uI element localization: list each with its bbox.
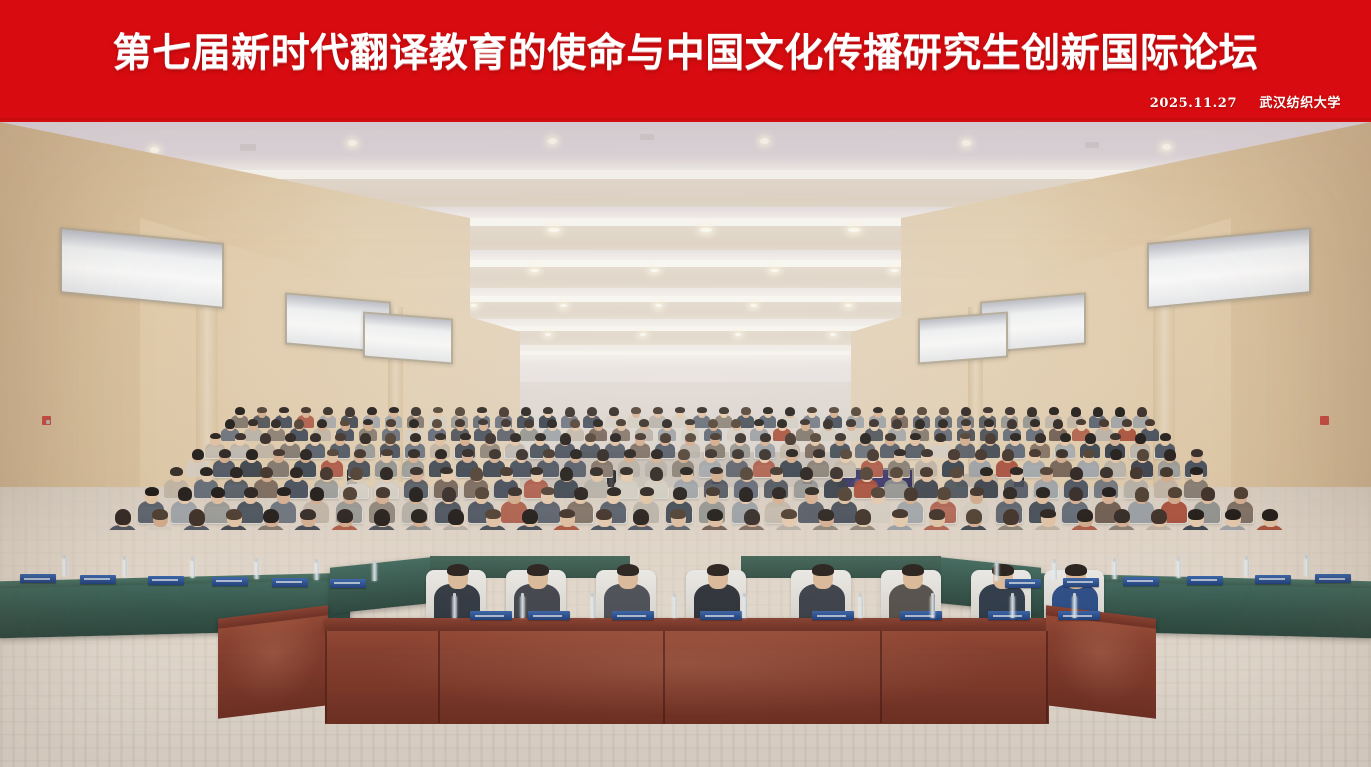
- audience-person-hair: [1030, 419, 1040, 427]
- presidium-person-hair: [902, 564, 924, 576]
- audience-person-hair: [631, 407, 641, 414]
- audience-person-hair: [935, 433, 946, 442]
- audience-person-hair: [960, 433, 971, 439]
- audience-person-hair: [948, 449, 960, 460]
- water-bottle: [62, 558, 67, 576]
- audience-person-hair: [760, 433, 771, 442]
- audience-person-body: [254, 479, 278, 498]
- nameplate: [900, 611, 942, 620]
- audience-person-hair: [510, 433, 521, 442]
- nameplate: [1058, 611, 1100, 620]
- nameplate: [612, 611, 654, 620]
- head-table-front: [325, 631, 1049, 724]
- event-date: 2025.11.27: [1150, 96, 1237, 111]
- audience-person-hair: [530, 467, 543, 475]
- event-venue: 武汉纺织大学: [1259, 96, 1341, 111]
- audience-person-hair: [1003, 487, 1018, 499]
- audience-person-hair: [1069, 487, 1084, 501]
- audience-person-hair: [1188, 509, 1204, 520]
- audience-person-hair: [867, 449, 879, 461]
- audience-person-hair: [670, 509, 686, 519]
- audience-person-hair: [389, 407, 399, 413]
- audience-person-hair: [597, 449, 609, 461]
- audience-person-hair: [610, 433, 621, 442]
- audience-person-hair: [285, 433, 296, 442]
- nameplate: [272, 578, 308, 587]
- audience-person-hair: [685, 419, 695, 425]
- audience-person-hair: [260, 433, 271, 444]
- audience-person-hair: [590, 467, 603, 476]
- audience-person-hair: [1053, 419, 1063, 429]
- presidium-person-hair: [707, 564, 729, 576]
- audience-person-hair: [680, 467, 693, 475]
- audience-person-hair: [873, 407, 883, 413]
- audience-person-hair: [1027, 407, 1037, 417]
- audience-person-hair: [904, 487, 919, 501]
- water-bottle: [1072, 596, 1077, 618]
- audience-person-hair: [1135, 487, 1150, 502]
- audience-person-hair: [310, 433, 321, 442]
- audience-person-hair: [277, 487, 292, 496]
- nameplate: [212, 577, 248, 586]
- nameplate: [148, 576, 184, 585]
- audience-person-hair: [984, 419, 994, 427]
- audience-person-hair: [938, 419, 948, 428]
- audience-person-hair: [939, 407, 949, 415]
- audience-person-hair: [1005, 407, 1015, 415]
- audience-person-hair: [433, 407, 443, 413]
- audience-person-hair: [830, 467, 843, 479]
- audience-person-hair: [273, 449, 285, 456]
- audience-person-hair: [170, 467, 183, 476]
- nameplate: [1187, 576, 1223, 585]
- audience-person-hair: [980, 467, 993, 476]
- audience-person-hair: [763, 407, 773, 414]
- audience-person-hair: [585, 433, 596, 442]
- banner-subtitle: 2025.11.27 武汉纺织大学: [1150, 92, 1341, 111]
- audience-person-hair: [1102, 487, 1117, 497]
- audience-seating: [0, 390, 1371, 530]
- audience-person-hair: [178, 487, 193, 501]
- nameplate: [80, 575, 116, 584]
- audience-person-hair: [1100, 467, 1113, 478]
- audience-person-hair: [462, 449, 474, 457]
- audience-person-hair: [1151, 509, 1167, 524]
- audience-person-hair: [1070, 467, 1083, 480]
- audience-person-hair: [708, 419, 718, 428]
- audience-person-hair: [662, 419, 672, 428]
- audience-person-hair: [408, 449, 420, 458]
- audience-person-hair: [475, 487, 490, 499]
- audience-person-hair: [810, 433, 821, 442]
- audience-person-hair: [501, 419, 511, 427]
- audience-person-hair: [805, 487, 820, 495]
- audience-person-hair: [920, 467, 933, 477]
- audience-person-hair: [374, 509, 390, 526]
- audience-person-hair: [744, 509, 760, 525]
- nameplate: [20, 574, 56, 583]
- audience-person-hair: [639, 419, 649, 427]
- audience-person-hair: [294, 419, 304, 429]
- audience-person-hair: [411, 509, 427, 523]
- audience-person-hair: [635, 433, 646, 440]
- audience-person-hair: [651, 449, 663, 459]
- audience-person-hair: [894, 449, 906, 456]
- audience-person-hair: [1160, 433, 1171, 441]
- water-bottle: [452, 596, 457, 618]
- presidium-person-hair: [447, 564, 469, 576]
- audience-person-hair: [653, 407, 663, 414]
- audience-person-hair: [524, 419, 534, 428]
- audience-person-hair: [570, 419, 580, 428]
- audience-person-hair: [607, 487, 622, 496]
- audience-person-hair: [807, 407, 817, 413]
- audience-person-hair: [432, 419, 442, 428]
- audience-person-hair: [455, 407, 465, 416]
- audience-person-hair: [335, 433, 346, 441]
- audience-person-hair: [829, 407, 839, 413]
- audience-person-hair: [890, 467, 903, 478]
- water-bottle: [1176, 560, 1181, 578]
- audience-person-hair: [1035, 433, 1046, 443]
- audience-person-hair: [301, 407, 311, 413]
- audience-person-hair: [1085, 433, 1096, 444]
- audience-person-hair: [740, 467, 753, 480]
- audience-person-hair: [735, 433, 746, 443]
- audience-person-hair: [1135, 433, 1146, 444]
- audience-person-hair: [660, 433, 671, 443]
- audience-person-hair: [559, 509, 575, 518]
- audience-person-hair: [975, 449, 987, 460]
- audience-person-hair: [710, 433, 721, 440]
- audience-person-hair: [596, 509, 612, 520]
- audience-person-hair: [823, 419, 833, 429]
- presidium-person-hair: [617, 564, 639, 576]
- nameplate: [528, 611, 570, 620]
- audience-person-hair: [1049, 407, 1059, 415]
- nameplate: [330, 579, 366, 588]
- audience-person-hair: [1262, 509, 1278, 521]
- audience-person-hair: [921, 449, 933, 457]
- audience-person-hair: [448, 509, 464, 525]
- audience-person-hair: [869, 419, 879, 427]
- audience-person-hair: [1114, 509, 1130, 523]
- audience-person-hair: [851, 407, 861, 416]
- audience-person-hair: [1225, 509, 1241, 520]
- audience-person-hair: [1160, 467, 1173, 477]
- audience-person-hair: [354, 449, 366, 458]
- water-bottle: [314, 562, 319, 580]
- audience-person-hair: [650, 467, 663, 481]
- audience-person-hair: [983, 407, 993, 413]
- audience-person-hair: [777, 419, 787, 428]
- audience-person-hair: [785, 433, 796, 445]
- audience-person-hair: [345, 407, 355, 417]
- audience-person-hair: [719, 407, 729, 414]
- audience-person-hair: [386, 419, 396, 427]
- audience-person-hair: [263, 509, 279, 523]
- audience-person-hair: [290, 467, 303, 478]
- audience-person-hair: [485, 433, 496, 444]
- audience-person-hair: [435, 449, 447, 459]
- audience-person-hair: [226, 509, 242, 520]
- audience-person-hair: [1056, 449, 1068, 458]
- audience-person-hair: [543, 449, 555, 458]
- audience-person-hair: [892, 509, 908, 518]
- audience-person-hair: [317, 419, 327, 428]
- nameplate: [700, 611, 742, 620]
- audience-person-hair: [409, 487, 424, 502]
- water-bottle: [254, 561, 259, 579]
- audience-person-hair: [1002, 449, 1014, 461]
- audience-person-hair: [381, 449, 393, 456]
- audience-person-hair: [1036, 487, 1051, 498]
- audience-person-hair: [1029, 449, 1041, 457]
- audience-person-hair: [1145, 419, 1155, 426]
- audience-person-hair: [455, 419, 465, 427]
- audience-person-hair: [410, 433, 421, 442]
- water-bottle: [858, 596, 863, 618]
- nameplate: [1005, 579, 1041, 588]
- audience-person-hair: [706, 487, 721, 496]
- presidium-person-hair: [527, 564, 549, 576]
- water-bottle: [994, 563, 999, 581]
- audience-person-hair: [970, 487, 985, 496]
- audience-person-hair: [442, 487, 457, 502]
- audience-person-hair: [892, 419, 902, 429]
- audience-person-hair: [772, 487, 787, 499]
- head-table-top: [325, 618, 1049, 632]
- audience-person-hair: [376, 487, 391, 498]
- audience-person-hair: [477, 407, 487, 413]
- audience-person-hair: [1040, 467, 1053, 475]
- audience-person-hair: [929, 509, 945, 520]
- audience-person-hair: [1010, 433, 1021, 441]
- poster-root: 第七届新时代翻译教育的使命与中国文化传播研究生创新国际论坛 2025.11.27…: [0, 0, 1371, 767]
- audience-person-hair: [910, 433, 921, 440]
- audience-person-hair: [1137, 407, 1147, 417]
- audience-person-hair: [343, 487, 358, 500]
- audience-person-hair: [917, 407, 927, 415]
- audience-person-hair: [697, 407, 707, 413]
- audience-person-hair: [560, 467, 573, 481]
- audience-person-hair: [367, 407, 377, 415]
- audience-person-hair: [1093, 407, 1103, 417]
- audience-person-hair: [675, 407, 685, 413]
- water-bottle: [1112, 561, 1117, 579]
- audience-person-hair: [1234, 487, 1249, 499]
- audience-person-hair: [435, 433, 446, 440]
- audience-person-hair: [759, 449, 771, 460]
- audience-person-hair: [535, 433, 546, 441]
- audience-person-hair: [409, 419, 419, 428]
- audience-person-hair: [260, 467, 273, 478]
- audience-person-hair: [871, 487, 886, 498]
- audience-person-hair: [633, 509, 649, 525]
- audience-person-hair: [754, 419, 764, 426]
- audience-person-hair: [1071, 407, 1081, 417]
- banner-title: 第七届新时代翻译教育的使命与中国文化传播研究生创新国际论坛: [0, 22, 1371, 78]
- audience-person-hair: [707, 509, 723, 521]
- audience-person-hair: [1164, 449, 1176, 461]
- audience-person-body: [831, 501, 857, 523]
- audience-person-hair: [895, 407, 905, 415]
- audience-person-hair: [985, 433, 996, 444]
- audience-person-hair: [1191, 449, 1203, 457]
- audience-person-hair: [300, 509, 316, 520]
- audience-person-hair: [192, 449, 204, 460]
- wall-window-panel-right-3: [918, 311, 1008, 364]
- water-bottle: [672, 596, 677, 618]
- audience-person-hair: [350, 467, 363, 480]
- audience-person-hair: [781, 509, 797, 519]
- audience-person-hair: [813, 449, 825, 458]
- audience-person-hair: [616, 419, 626, 426]
- audience-person-hair: [915, 419, 925, 429]
- audience-person-hair: [500, 467, 513, 476]
- nameplate: [1123, 577, 1159, 586]
- audience-person-hair: [210, 433, 221, 439]
- audience-person-hair: [818, 509, 834, 521]
- audience-person-hair: [587, 407, 597, 416]
- audience-person-hair: [470, 467, 483, 481]
- audience-person-hair: [257, 407, 267, 413]
- audience-person-hair: [211, 487, 226, 498]
- water-bottle: [1052, 562, 1057, 580]
- conference-photo: [0, 122, 1371, 767]
- audience-person-hair: [1201, 487, 1216, 501]
- water-bottle: [742, 596, 747, 618]
- audience-person-hair: [271, 419, 281, 428]
- audience-person-hair: [235, 407, 245, 415]
- audience-person-hair: [1110, 449, 1122, 460]
- audience-person-hair: [565, 407, 575, 417]
- audience-person-hair: [860, 433, 871, 444]
- audience-person-hair: [310, 487, 325, 501]
- water-bottle: [372, 563, 377, 581]
- audience-person-hair: [246, 449, 258, 460]
- audience-person-hair: [1003, 509, 1019, 525]
- audience-person-hair: [950, 467, 963, 478]
- audience-person-hair: [1168, 487, 1183, 498]
- audience-person-hair: [410, 467, 423, 475]
- audience-person-hair: [460, 433, 471, 440]
- audience-person-hair: [574, 487, 589, 500]
- audience-person-hair: [385, 433, 396, 444]
- audience-person-hair: [499, 407, 509, 417]
- audience-person-hair: [624, 449, 636, 458]
- water-bottle: [930, 596, 935, 618]
- audience-person-hair: [152, 509, 168, 520]
- audience-person-hair: [785, 407, 795, 416]
- audience-person-hair: [225, 419, 235, 429]
- audience-person-hair: [1115, 407, 1125, 417]
- audience-person-hair: [235, 433, 246, 440]
- presidium-person-hair: [1065, 564, 1087, 576]
- nameplate: [1063, 578, 1099, 587]
- audience-person-hair: [115, 509, 131, 525]
- audience-person-hair: [485, 509, 501, 519]
- audience-person-hair: [673, 487, 688, 500]
- audience-person-hair: [516, 449, 528, 460]
- audience-person-hair: [609, 407, 619, 416]
- audience-person-hair: [937, 487, 952, 500]
- audience-person-hair: [620, 467, 633, 475]
- nameplate: [470, 611, 512, 620]
- audience-person-hair: [961, 407, 971, 416]
- audience-person-hair: [739, 487, 754, 502]
- presidium-person-hair: [812, 564, 834, 576]
- audience-person-hair: [1110, 433, 1121, 440]
- audience-person-hair: [593, 419, 603, 427]
- audience-person-hair: [800, 467, 813, 480]
- audience-person-hair: [741, 407, 751, 415]
- water-bottle: [1244, 559, 1249, 577]
- nameplate: [1315, 574, 1351, 583]
- water-bottle: [1304, 558, 1309, 576]
- audience-person-hair: [1122, 419, 1132, 427]
- audience-person-hair: [508, 487, 523, 496]
- audience-person-hair: [244, 487, 259, 498]
- audience-person-hair: [705, 449, 717, 458]
- water-bottle: [590, 596, 595, 618]
- audience-person-hair: [489, 449, 501, 459]
- audience-person-hair: [835, 433, 846, 441]
- audience-person-hair: [1076, 419, 1086, 425]
- audience-person-hair: [230, 467, 243, 478]
- audience-person-hair: [640, 487, 655, 496]
- audience-person-hair: [340, 419, 350, 426]
- audience-person-hair: [279, 407, 289, 413]
- audience-person-hair: [570, 449, 582, 459]
- audience-person-hair: [1190, 467, 1203, 475]
- audience-person-hair: [731, 419, 741, 428]
- audience-person-hair: [219, 449, 231, 458]
- audience-person-hair: [560, 433, 571, 445]
- audience-person-hair: [1010, 467, 1023, 475]
- audience-person-hair: [189, 509, 205, 526]
- nameplate: [988, 611, 1030, 620]
- audience-person-hair: [327, 449, 339, 456]
- audience-person-hair: [543, 407, 553, 414]
- nameplate: [812, 611, 854, 620]
- audience-person-hair: [786, 449, 798, 457]
- audience-person-hair: [860, 467, 873, 480]
- audience-person-hair: [1060, 433, 1071, 442]
- water-bottle: [190, 560, 195, 578]
- audience-person-hair: [732, 449, 744, 459]
- audience-person-hair: [685, 433, 696, 442]
- audience-person-hair: [966, 509, 982, 524]
- audience-person-hair: [300, 449, 312, 460]
- audience-person-hair: [840, 449, 852, 459]
- audience-person-hair: [248, 419, 258, 426]
- audience-person-hair: [337, 509, 353, 523]
- audience-person-hair: [770, 467, 783, 475]
- audience-person-hair: [145, 487, 160, 496]
- audience-person-hair: [547, 419, 557, 428]
- water-bottle: [122, 559, 127, 577]
- audience-person-hair: [200, 467, 213, 476]
- audience-person-hair: [541, 487, 556, 495]
- audience-person-hair: [846, 419, 856, 427]
- audience-person-hair: [380, 467, 393, 480]
- audience-person-hair: [961, 419, 971, 426]
- water-bottle: [1010, 596, 1015, 618]
- audience-person-hair: [1083, 449, 1095, 458]
- audience-person-hair: [1007, 419, 1017, 429]
- audience-person-hair: [411, 407, 421, 416]
